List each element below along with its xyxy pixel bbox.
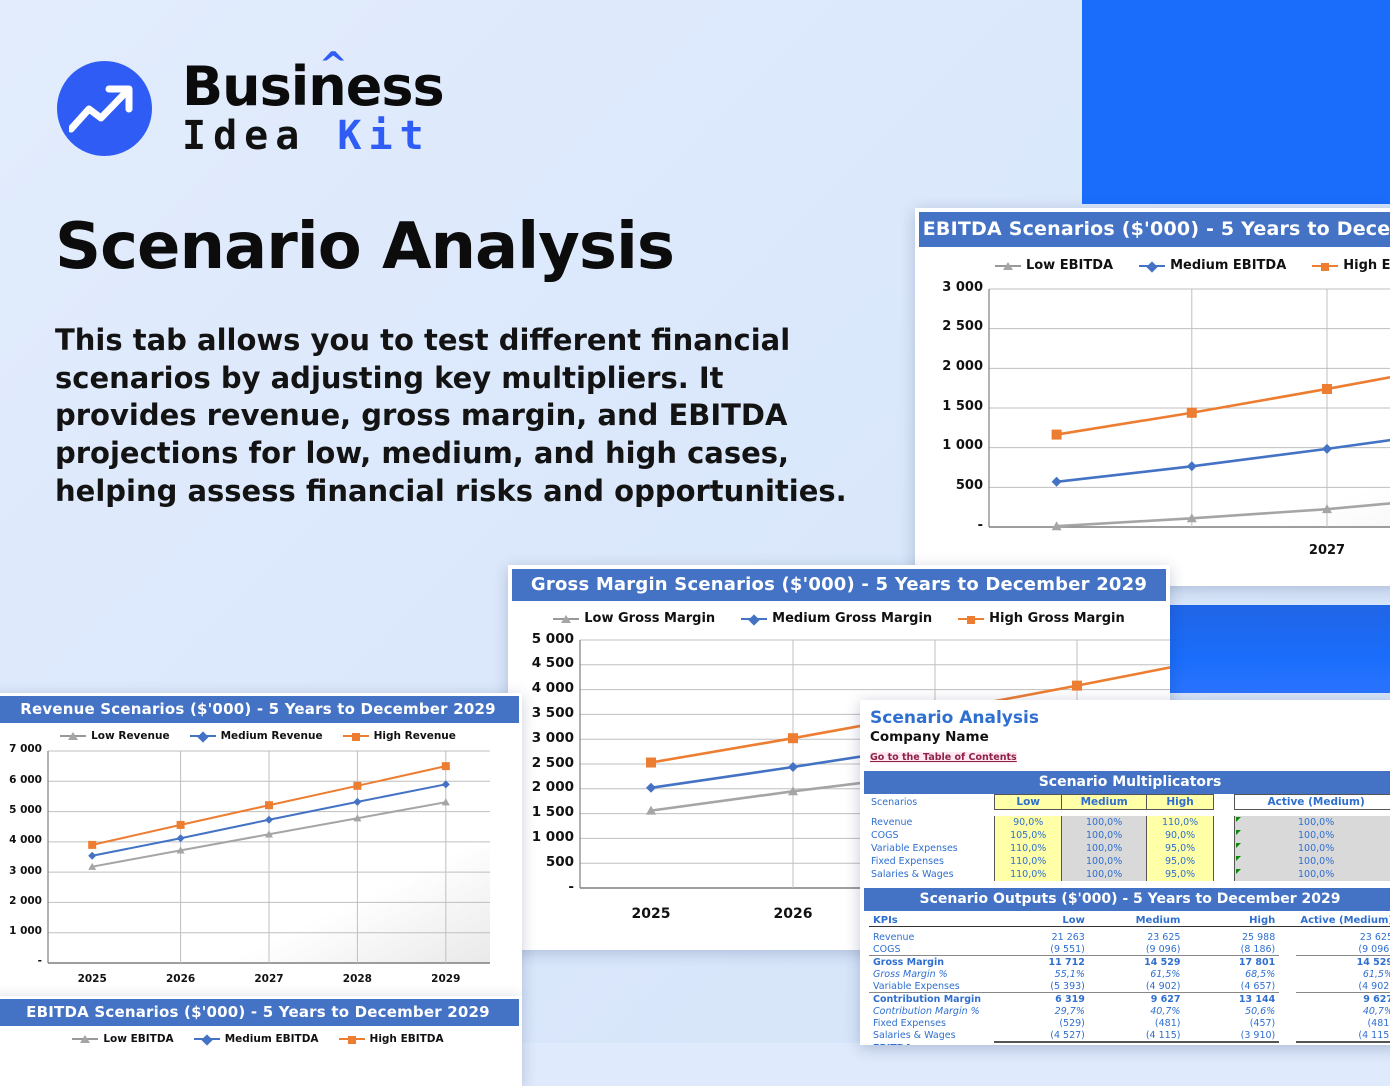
multiplier-medium-value[interactable]: 100,0% xyxy=(1062,829,1146,842)
brand-logo: Business ^ Idea Kit xyxy=(57,60,444,156)
brand-name-primary: Business ^ xyxy=(182,60,444,114)
outputs-row-label: Revenue xyxy=(869,931,994,943)
multiplier-active-value: 100,0% xyxy=(1235,816,1390,829)
chart-title-revenue: Revenue Scenarios ($'000) - 5 Years to D… xyxy=(0,696,519,723)
outputs-active-value: (481) xyxy=(1296,1017,1390,1029)
outputs-header-low: Low xyxy=(994,914,1089,927)
multipliers-col-header: Low xyxy=(995,795,1062,810)
legend-label-medium: Medium Revenue xyxy=(221,730,323,742)
legend-label-medium: Medium Gross Margin xyxy=(772,611,932,626)
multipliers-col-header: Medium xyxy=(1062,795,1146,810)
outputs-active-value: (9 096) xyxy=(1296,943,1390,956)
y-axis-tick-label: 5 000 xyxy=(514,631,574,647)
chart-card-revenue: Revenue Scenarios ($'000) - 5 Years to D… xyxy=(0,693,522,996)
multiplier-medium-value[interactable]: 100,0% xyxy=(1062,816,1146,829)
outputs-medium-value: 23 625 xyxy=(1089,931,1185,943)
legend-item-low: Low EBITDA xyxy=(72,1033,173,1045)
chart-title-ebitda-top: EBITDA Scenarios ($'000) - 5 Years to De… xyxy=(919,212,1390,247)
chart-legend-ebitda-bottom: Low EBITDA Medium EBITDA High EBITDA xyxy=(0,1033,522,1045)
multiplier-low-value[interactable]: 110,0% xyxy=(995,842,1062,855)
outputs-row-label: Gross Margin xyxy=(869,956,994,969)
outputs-low-value: 55,1% xyxy=(994,968,1089,980)
outputs-active-value: 5 030 xyxy=(1296,1042,1390,1045)
x-axis-tick-label: 2027 xyxy=(241,973,297,985)
legend-item-low: Low Gross Margin xyxy=(553,611,715,626)
legend-line-medium-icon xyxy=(190,735,216,737)
multiplier-active-value: 100,0% xyxy=(1235,829,1390,842)
outputs-row: Gross Margin11 71214 52917 80114 529 xyxy=(869,956,1390,969)
legend-line-high-icon xyxy=(1312,265,1338,267)
legend-line-medium-icon xyxy=(194,1038,220,1040)
circumflex-accent-icon: ^ xyxy=(319,48,347,82)
outputs-low-value: (5 393) xyxy=(994,980,1089,993)
outputs-medium-value: 40,7% xyxy=(1089,1005,1185,1017)
outputs-active-value: 40,7% xyxy=(1296,1005,1390,1017)
sheet-title: Scenario Analysis xyxy=(870,708,1390,728)
legend-line-low-icon xyxy=(60,735,86,737)
outputs-low-value: 1 263 xyxy=(994,1042,1089,1045)
legend-line-high-icon xyxy=(339,1038,365,1040)
multiplier-active-value: 100,0% xyxy=(1235,855,1390,868)
legend-item-high: High EBITDA xyxy=(339,1033,444,1045)
multiplier-high-value[interactable]: 95,0% xyxy=(1146,855,1213,868)
legend-label-low: Low Gross Margin xyxy=(584,611,715,626)
brand-kit-text: Kit xyxy=(337,113,430,159)
outputs-row-label: Variable Expenses xyxy=(869,980,994,993)
multiplier-high-value[interactable]: 90,0% xyxy=(1146,829,1213,842)
outputs-header-medium: Medium xyxy=(1089,914,1185,927)
x-axis-tick-label: 2026 xyxy=(153,973,209,985)
multiplier-high-value[interactable]: 95,0% xyxy=(1146,842,1213,855)
multipliers-row: COGS105,0%100,0%90,0%100,0% xyxy=(868,829,1390,842)
multipliers-row-name: Salaries & Wages xyxy=(868,868,995,881)
outputs-header-row: KPIsLowMediumHighActive (Medium) xyxy=(869,914,1390,927)
y-axis-tick-label: - xyxy=(923,518,983,533)
legend-line-high-icon xyxy=(958,618,984,620)
outputs-active-value: (4 902) xyxy=(1296,980,1390,993)
legend-item-low: Low EBITDA xyxy=(995,258,1113,273)
y-axis-tick-label: - xyxy=(0,955,42,967)
scenario-multipliers-table: ScenariosLowMediumHighActive (Medium)Rev… xyxy=(868,794,1390,881)
outputs-low-value: 6 319 xyxy=(994,993,1089,1006)
scenario-outputs-table: KPIsLowMediumHighActive (Medium)Revenue2… xyxy=(869,914,1390,1045)
multipliers-band-title: Scenario Multiplicators xyxy=(864,771,1390,794)
page-title: Scenario Analysis xyxy=(55,210,775,284)
y-axis-tick-label: - xyxy=(514,879,574,895)
multipliers-row: Revenue90,0%100,0%110,0%100,0% xyxy=(868,816,1390,829)
y-axis-tick-label: 2 000 xyxy=(923,359,983,374)
legend-line-high-icon xyxy=(343,735,369,737)
multipliers-row-label: Scenarios xyxy=(868,795,995,810)
x-axis-tick-label: 2027 xyxy=(1292,543,1362,558)
outputs-active-value: 14 529 xyxy=(1296,956,1390,969)
outputs-medium-value: 14 529 xyxy=(1089,956,1185,969)
legend-label-high: High Gross Margin xyxy=(989,611,1125,626)
legend-label-high: High EBITDA xyxy=(1343,258,1390,273)
outputs-low-value: 11 712 xyxy=(994,956,1089,969)
outputs-row-label: Contribution Margin % xyxy=(869,1005,994,1017)
chart-card-ebitda-bottom: EBITDA Scenarios ($'000) - 5 Years to De… xyxy=(0,996,522,1086)
outputs-low-value: 21 263 xyxy=(994,931,1089,943)
comment-flag-icon xyxy=(1236,856,1241,861)
table-of-contents-link[interactable]: Go to the Table of Contents xyxy=(870,752,1017,763)
outputs-high-value: 17 801 xyxy=(1184,956,1279,969)
page-description: This tab allows you to test different fi… xyxy=(55,322,855,510)
outputs-medium-value: 61,5% xyxy=(1089,968,1185,980)
legend-line-low-icon xyxy=(995,265,1021,267)
y-axis-tick-label: 1 500 xyxy=(514,804,574,820)
brand-idea-text: Idea xyxy=(182,113,337,159)
outputs-medium-value: (9 096) xyxy=(1089,943,1185,956)
outputs-active-value: 9 627 xyxy=(1296,993,1390,1006)
comment-flag-icon xyxy=(1236,843,1241,848)
legend-label-high: High Revenue xyxy=(374,730,456,742)
chart-title-ebitda-bottom: EBITDA Scenarios ($'000) - 5 Years to De… xyxy=(0,999,519,1026)
y-axis-tick-label: 4 000 xyxy=(0,834,42,846)
outputs-row: Revenue21 26323 62525 98823 625 xyxy=(869,931,1390,943)
multipliers-row-name: COGS xyxy=(868,829,995,842)
outputs-high-value: (3 910) xyxy=(1184,1029,1279,1042)
legend-item-high: High Revenue xyxy=(343,730,456,742)
y-axis-tick-label: 1 000 xyxy=(0,925,42,937)
outputs-high-value: (8 186) xyxy=(1184,943,1279,956)
x-axis-tick-label: 2028 xyxy=(329,973,385,985)
brand-name-secondary: Idea Kit xyxy=(182,116,444,156)
y-axis-tick-label: 2 000 xyxy=(514,779,574,795)
outputs-high-value: 8 777 xyxy=(1184,1042,1279,1045)
x-axis-tick-label: 2025 xyxy=(616,906,686,922)
multiplier-medium-value[interactable]: 100,0% xyxy=(1062,855,1146,868)
chart-card-ebitda-top: EBITDA Scenarios ($'000) - 5 Years to De… xyxy=(915,208,1390,586)
outputs-row: Salaries & Wages(4 527)(4 115)(3 910)(4 … xyxy=(869,1029,1390,1042)
brand-name-text: Business xyxy=(182,55,444,118)
outputs-medium-value: 9 627 xyxy=(1089,993,1185,1006)
y-axis-tick-label: 1 000 xyxy=(923,438,983,453)
multiplier-low-value[interactable]: 105,0% xyxy=(995,829,1062,842)
legend-item-medium: Medium EBITDA xyxy=(194,1033,319,1045)
multipliers-active-header: Active (Medium) xyxy=(1235,795,1390,810)
legend-item-high: High EBITDA xyxy=(1312,258,1390,273)
outputs-high-value: 50,6% xyxy=(1184,1005,1279,1017)
decorative-blue-block-middle xyxy=(1170,605,1390,693)
multiplier-low-value[interactable]: 110,0% xyxy=(995,868,1062,881)
outputs-row: EBITDA1 2635 0308 7775 030 xyxy=(869,1042,1390,1045)
outputs-high-value: 25 988 xyxy=(1184,931,1279,943)
y-axis-tick-label: 7 000 xyxy=(0,743,42,755)
x-axis-tick-label: 2026 xyxy=(758,906,828,922)
multipliers-row: Fixed Expenses110,0%100,0%95,0%100,0% xyxy=(868,855,1390,868)
y-axis-tick-label: 3 000 xyxy=(923,280,983,295)
y-axis-tick-label: 3 000 xyxy=(514,730,574,746)
outputs-active-value: 23 625 xyxy=(1296,931,1390,943)
y-axis-tick-label: 500 xyxy=(923,478,983,493)
y-axis-tick-label: 1 500 xyxy=(923,399,983,414)
outputs-low-value: 29,7% xyxy=(994,1005,1089,1017)
legend-line-medium-icon xyxy=(741,618,767,620)
outputs-row: Gross Margin %55,1%61,5%68,5%61,5% xyxy=(869,968,1390,980)
multiplier-low-value[interactable]: 110,0% xyxy=(995,855,1062,868)
outputs-active-value: (4 115) xyxy=(1296,1029,1390,1042)
outputs-medium-value: (4 902) xyxy=(1089,980,1185,993)
outputs-row: Variable Expenses(5 393)(4 902)(4 657)(4… xyxy=(869,980,1390,993)
outputs-header-kpi: KPIs xyxy=(869,914,994,927)
y-axis-tick-label: 3 000 xyxy=(0,865,42,877)
outputs-row-label: COGS xyxy=(869,943,994,956)
outputs-row-label: EBITDA xyxy=(869,1042,994,1045)
outputs-active-value: 61,5% xyxy=(1296,968,1390,980)
outputs-low-value: (529) xyxy=(994,1017,1089,1029)
chart-legend-ebitda-top: Low EBITDA Medium EBITDA High EBITDA xyxy=(915,258,1390,273)
legend-label-low: Low EBITDA xyxy=(103,1033,173,1045)
y-axis-tick-label: 2 500 xyxy=(514,755,574,771)
outputs-medium-value: (4 115) xyxy=(1089,1029,1185,1042)
outputs-high-value: (457) xyxy=(1184,1017,1279,1029)
decorative-blue-block-top xyxy=(1082,0,1390,204)
x-axis-tick-label: 2025 xyxy=(64,973,120,985)
y-axis-tick-label: 500 xyxy=(514,854,574,870)
comment-flag-icon xyxy=(1236,830,1241,835)
outputs-row-label: Fixed Expenses xyxy=(869,1017,994,1029)
comment-flag-icon xyxy=(1236,817,1241,822)
outputs-header-high: High xyxy=(1184,914,1279,927)
legend-item-low: Low Revenue xyxy=(60,730,170,742)
y-axis-tick-label: 4 500 xyxy=(514,655,574,671)
legend-label-high: High EBITDA xyxy=(370,1033,444,1045)
scenario-analysis-sheet: Scenario Analysis Company Name Go to the… xyxy=(860,700,1390,1045)
legend-label-low: Low EBITDA xyxy=(1026,258,1113,273)
multiplier-medium-value[interactable]: 100,0% xyxy=(1062,868,1146,881)
outputs-medium-value: 5 030 xyxy=(1089,1042,1185,1045)
outputs-high-value: 13 144 xyxy=(1184,993,1279,1006)
outputs-row: Contribution Margin %29,7%40,7%50,6%40,7… xyxy=(869,1005,1390,1017)
legend-item-medium: Medium EBITDA xyxy=(1139,258,1286,273)
outputs-row-label: Salaries & Wages xyxy=(869,1029,994,1042)
y-axis-tick-label: 3 500 xyxy=(514,705,574,721)
y-axis-tick-label: 5 000 xyxy=(0,804,42,816)
outputs-low-value: (9 551) xyxy=(994,943,1089,956)
trend-arrow-icon xyxy=(57,61,152,156)
legend-label-medium: Medium EBITDA xyxy=(1170,258,1286,273)
multiplier-low-value[interactable]: 90,0% xyxy=(995,816,1062,829)
chart-plot-revenue: -1 0002 0003 0004 0005 0006 0007 0002025… xyxy=(0,747,522,996)
legend-line-medium-icon xyxy=(1139,265,1165,267)
multiplier-medium-value[interactable]: 100,0% xyxy=(1062,842,1146,855)
multipliers-row: Salaries & Wages110,0%100,0%95,0%100,0% xyxy=(868,868,1390,881)
multipliers-row-name: Fixed Expenses xyxy=(868,855,995,868)
outputs-band-title: Scenario Outputs ($'000) - 5 Years to De… xyxy=(864,888,1390,911)
multiplier-active-value: 100,0% xyxy=(1235,868,1390,881)
outputs-header-active: Active (Medium) xyxy=(1296,914,1390,927)
multipliers-col-header: High xyxy=(1146,795,1213,810)
sheet-company-name: Company Name xyxy=(870,729,1390,745)
y-axis-tick-label: 1 000 xyxy=(514,829,574,845)
outputs-row-label: Contribution Margin xyxy=(869,993,994,1006)
y-axis-tick-label: 6 000 xyxy=(0,774,42,786)
legend-item-medium: Medium Gross Margin xyxy=(741,611,932,626)
legend-label-low: Low Revenue xyxy=(91,730,170,742)
multipliers-row: Variable Expenses110,0%100,0%95,0%100,0% xyxy=(868,842,1390,855)
y-axis-tick-label: 4 000 xyxy=(514,680,574,696)
chart-legend-gross-margin: Low Gross Margin Medium Gross Margin Hig… xyxy=(508,611,1170,626)
multiplier-high-value[interactable]: 110,0% xyxy=(1146,816,1213,829)
multiplier-high-value[interactable]: 95,0% xyxy=(1146,868,1213,881)
outputs-row-label: Gross Margin % xyxy=(869,968,994,980)
outputs-high-value: 68,5% xyxy=(1184,968,1279,980)
chart-title-gross-margin: Gross Margin Scenarios ($'000) - 5 Years… xyxy=(512,569,1166,601)
outputs-low-value: (4 527) xyxy=(994,1029,1089,1042)
legend-label-medium: Medium EBITDA xyxy=(225,1033,319,1045)
comment-flag-icon xyxy=(1236,869,1241,874)
multipliers-row-name: Revenue xyxy=(868,816,995,829)
multiplier-active-value: 100,0% xyxy=(1235,842,1390,855)
outputs-row: Contribution Margin6 3199 62713 1449 627 xyxy=(869,993,1390,1006)
y-axis-tick-label: 2 000 xyxy=(0,895,42,907)
legend-line-low-icon xyxy=(72,1038,98,1040)
y-axis-tick-label: 2 500 xyxy=(923,319,983,334)
legend-item-high: High Gross Margin xyxy=(958,611,1125,626)
x-axis-tick-label: 2029 xyxy=(418,973,474,985)
outputs-row: COGS(9 551)(9 096)(8 186)(9 096) xyxy=(869,943,1390,956)
outputs-row: Fixed Expenses(529)(481)(457)(481) xyxy=(869,1017,1390,1029)
chart-legend-revenue: Low Revenue Medium Revenue High Revenue xyxy=(0,730,522,742)
outputs-medium-value: (481) xyxy=(1089,1017,1185,1029)
legend-item-medium: Medium Revenue xyxy=(190,730,323,742)
legend-line-low-icon xyxy=(553,618,579,620)
outputs-high-value: (4 657) xyxy=(1184,980,1279,993)
multipliers-row-name: Variable Expenses xyxy=(868,842,995,855)
chart-plot-ebitda-top: -5001 0001 5002 0002 5003 00020272028 xyxy=(915,281,1390,571)
